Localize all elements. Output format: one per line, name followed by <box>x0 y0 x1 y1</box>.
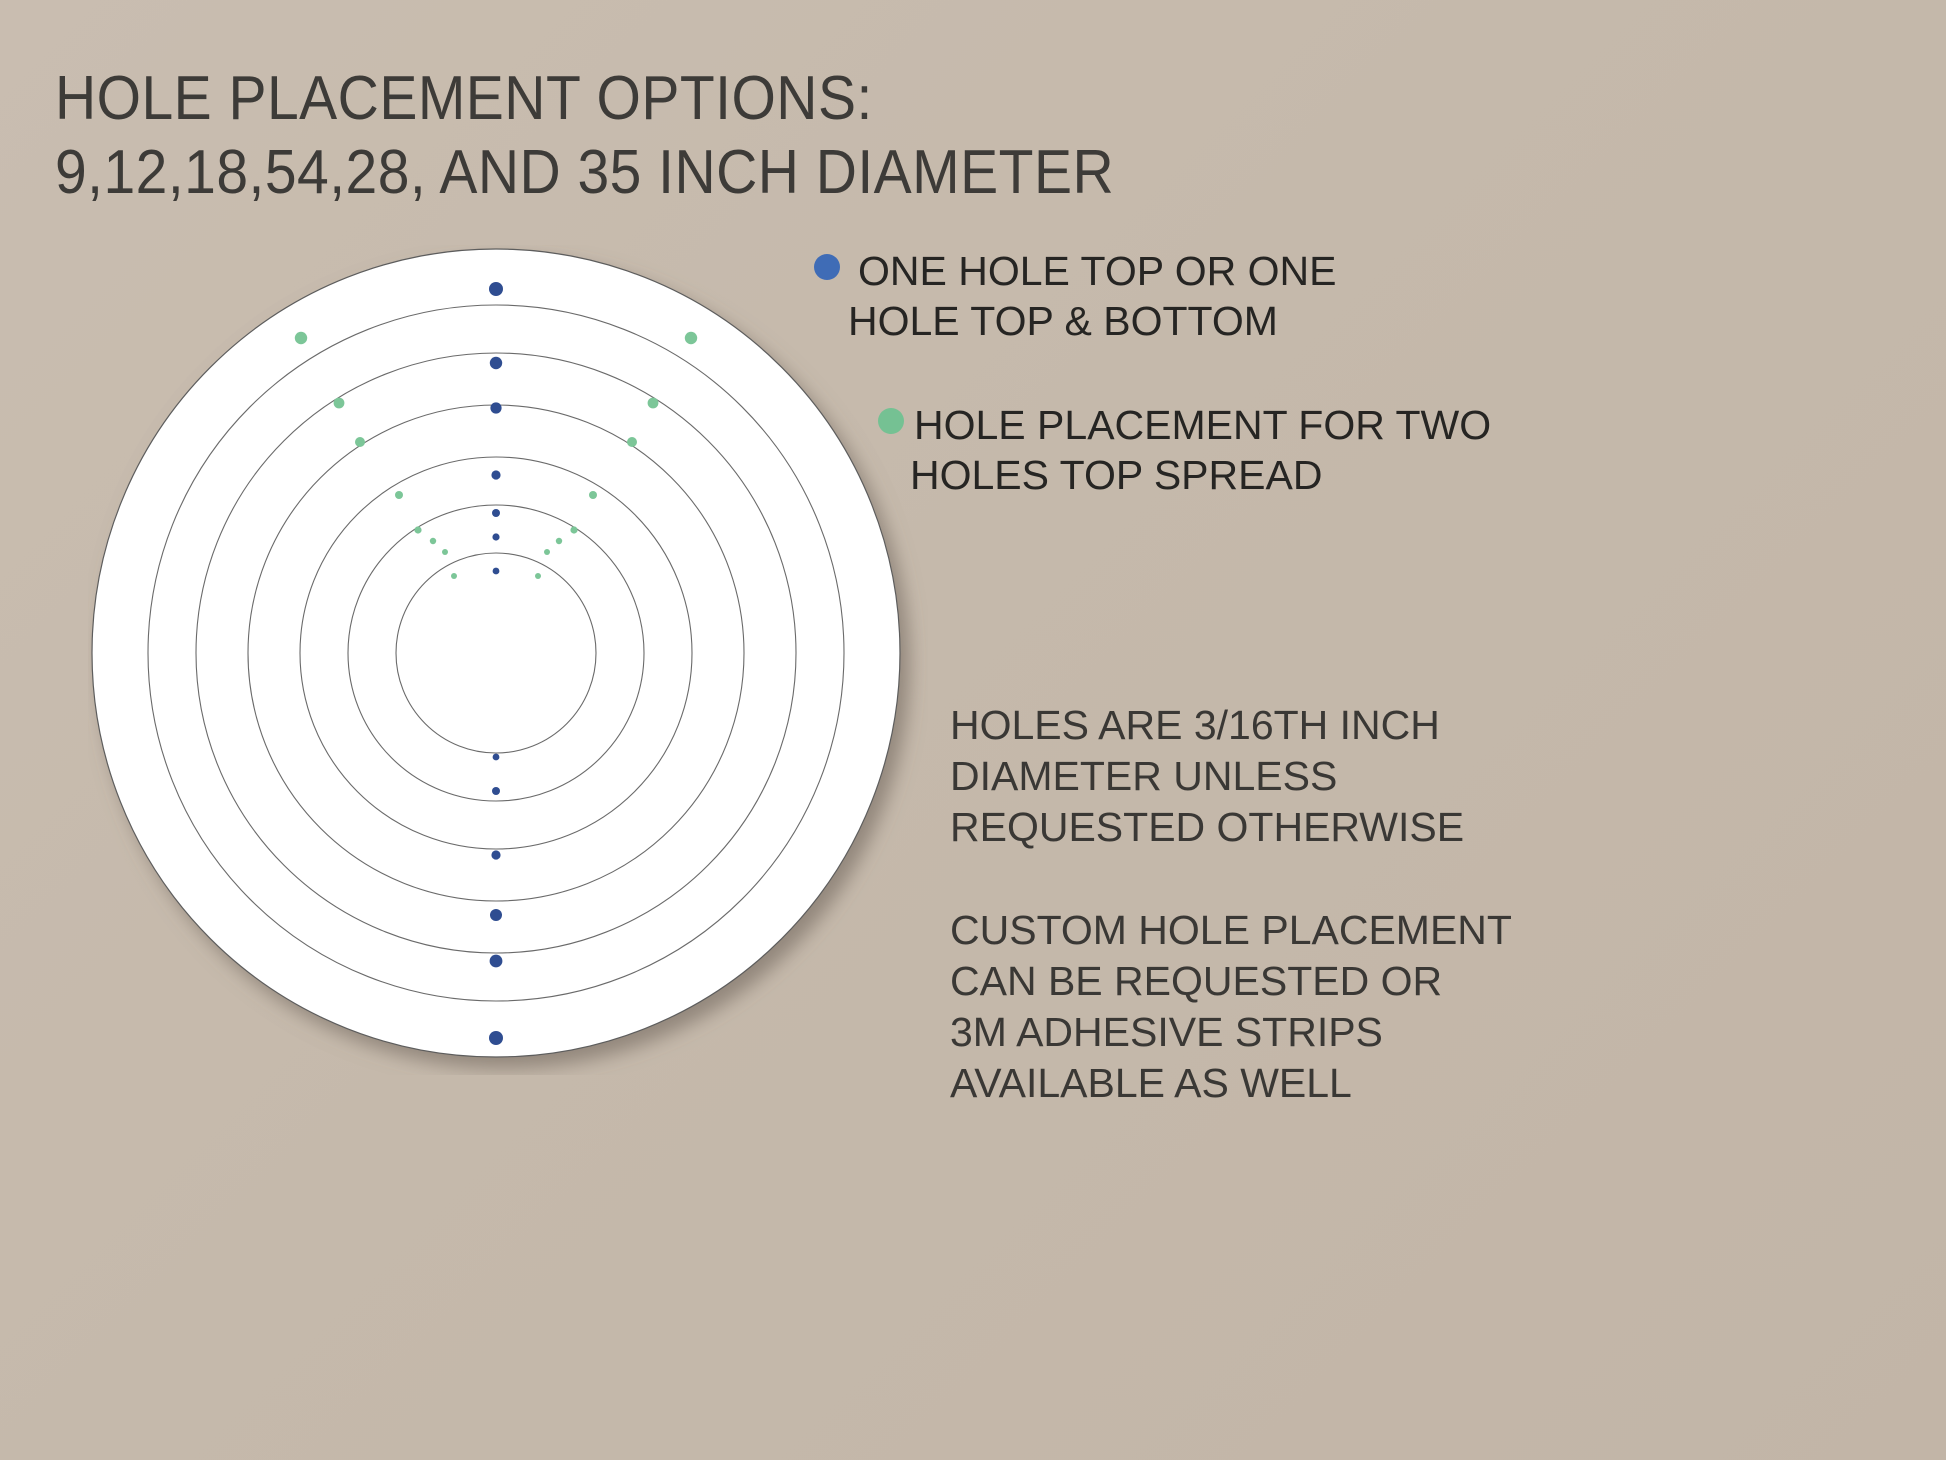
green-hole <box>442 549 448 555</box>
legend-item-two-holes-label: HOLE PLACEMENT FOR TWO HOLES TOP SPREAD <box>806 400 1566 500</box>
legend: ONE HOLE TOP OR ONE HOLE TOP & BOTTOM HO… <box>806 246 1566 554</box>
legend-item-two-holes: HOLE PLACEMENT FOR TWO HOLES TOP SPREAD <box>806 400 1566 500</box>
green-hole <box>334 398 345 409</box>
green-hole <box>570 526 577 533</box>
blue-hole <box>492 787 500 795</box>
green-hole <box>295 332 307 344</box>
note-custom-placement-line-1: CUSTOM HOLE PLACEMENT <box>950 905 1650 956</box>
blue-hole <box>490 955 503 968</box>
outer-disc <box>92 249 900 1057</box>
green-hole <box>451 573 457 579</box>
page-title-line-1: HOLE PLACEMENT OPTIONS: <box>55 62 1205 136</box>
blue-hole <box>493 568 500 575</box>
green-hole <box>355 437 365 447</box>
blue-hole <box>492 509 500 517</box>
note-hole-size: HOLES ARE 3/16TH INCH DIAMETER UNLESS RE… <box>950 700 1650 853</box>
blue-hole <box>490 909 502 921</box>
green-dot-icon <box>878 408 904 434</box>
notes-block: HOLES ARE 3/16TH INCH DIAMETER UNLESS RE… <box>950 700 1650 1161</box>
legend-item-one-hole: ONE HOLE TOP OR ONE HOLE TOP & BOTTOM <box>806 246 1566 346</box>
green-hole <box>395 491 403 499</box>
green-hole <box>556 538 562 544</box>
hole-placement-diagram <box>88 245 928 1065</box>
legend-item-one-hole-label: ONE HOLE TOP OR ONE HOLE TOP & BOTTOM <box>806 246 1566 346</box>
blue-hole <box>490 357 502 369</box>
note-custom-placement-line-3: 3M ADHESIVE STRIPS <box>950 1007 1650 1058</box>
green-hole <box>544 549 550 555</box>
legend-two-holes-line-1: HOLE PLACEMENT FOR TWO <box>914 402 1491 448</box>
blue-hole <box>493 754 500 761</box>
legend-one-hole-line-1: ONE HOLE TOP OR ONE <box>858 248 1336 294</box>
diagram-svg <box>88 245 928 1075</box>
legend-two-holes-line-2: HOLES TOP SPREAD <box>910 450 1566 500</box>
green-hole <box>535 573 541 579</box>
green-hole <box>685 332 697 344</box>
page-title-line-2: 9,12,18,54,28, AND 35 INCH DIAMETER <box>55 136 1205 210</box>
green-hole <box>627 437 637 447</box>
note-custom-placement: CUSTOM HOLE PLACEMENT CAN BE REQUESTED O… <box>950 905 1650 1109</box>
note-hole-size-line-1: HOLES ARE 3/16TH INCH <box>950 700 1650 751</box>
green-hole <box>589 491 597 499</box>
page-title: HOLE PLACEMENT OPTIONS: 9,12,18,54,28, A… <box>55 62 1305 210</box>
blue-hole <box>491 850 500 859</box>
note-custom-placement-line-2: CAN BE REQUESTED OR <box>950 956 1650 1007</box>
blue-dot-icon <box>814 254 840 280</box>
note-hole-size-line-2: DIAMETER UNLESS <box>950 751 1650 802</box>
note-hole-size-line-3: REQUESTED OTHERWISE <box>950 802 1650 853</box>
blue-hole <box>489 282 503 296</box>
note-custom-placement-line-4: AVAILABLE AS WELL <box>950 1058 1650 1109</box>
green-hole <box>414 526 421 533</box>
blue-hole <box>489 1031 503 1045</box>
green-hole <box>430 538 436 544</box>
blue-hole <box>490 402 501 413</box>
green-hole <box>648 398 659 409</box>
blue-hole <box>491 470 500 479</box>
legend-one-hole-line-2: HOLE TOP & BOTTOM <box>848 296 1566 346</box>
blue-hole <box>492 533 499 540</box>
slide-canvas: HOLE PLACEMENT OPTIONS: 9,12,18,54,28, A… <box>0 0 1946 1460</box>
